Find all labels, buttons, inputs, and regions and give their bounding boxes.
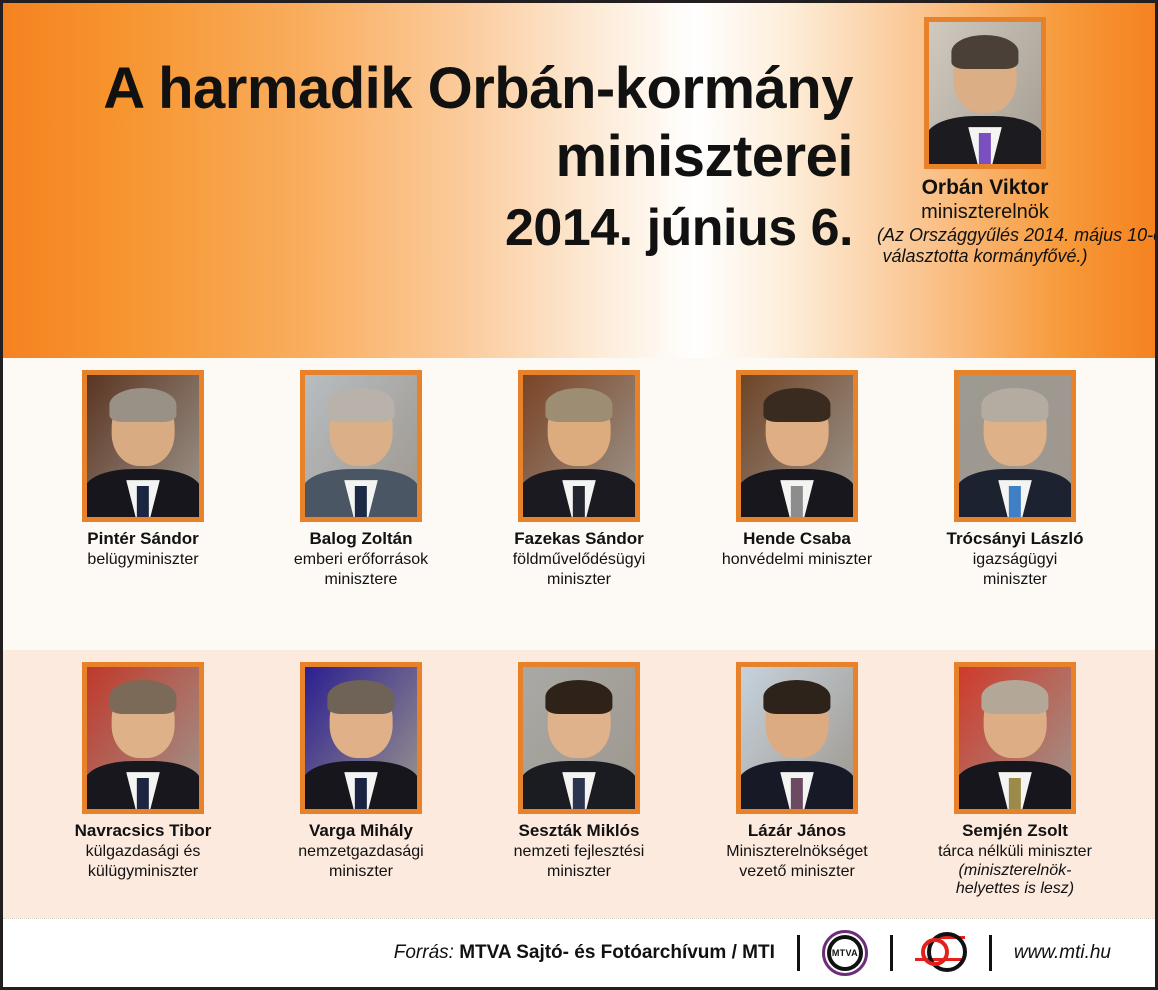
role-line: nemzetgazdasági xyxy=(267,842,455,862)
person-role: nemzetgazdaságiminiszter xyxy=(267,842,455,881)
role-line: miniszter xyxy=(267,862,455,882)
role-line: miniszter xyxy=(921,570,1109,590)
role-line: vezető miniszter xyxy=(703,862,891,882)
role-line: minisztere xyxy=(267,570,455,590)
person-role: honvédelmi miniszter xyxy=(703,550,891,570)
title-date: 2014. június 6. xyxy=(23,192,853,259)
pm-role: miniszterelnök xyxy=(877,200,1093,224)
portrait-placeholder xyxy=(523,667,635,809)
role-line: Miniszterelnökséget xyxy=(703,842,891,862)
person-name: Lázár János xyxy=(703,821,891,841)
title-line-2: miniszterei xyxy=(23,123,853,191)
minister-row-2: Navracsics Tiborkülgazdasági éskülügymin… xyxy=(3,650,1155,918)
person-name: Fazekas Sándor xyxy=(485,529,673,549)
person-role: külgazdasági éskülügyminiszter xyxy=(49,842,237,881)
person-name: Hende Csaba xyxy=(703,529,891,549)
portrait-placeholder xyxy=(87,375,199,517)
role-line: földművelődésügyi xyxy=(485,550,673,570)
minister-card: Balog Zoltánemberi erőforrásokminisztere xyxy=(267,358,455,650)
pm-note-line-1: (Az Országgyűlés 2014. május 10-én xyxy=(877,225,1093,246)
role-line: honvédelmi miniszter xyxy=(703,550,891,570)
portrait-trocsanyi-laszlo xyxy=(954,370,1076,522)
minister-card: Lázár JánosMiniszterelnökségetvezető min… xyxy=(703,650,891,918)
person-role: Miniszterelnökségetvezető miniszter xyxy=(703,842,891,881)
portrait-hende-csaba xyxy=(736,370,858,522)
role-line: tárca nélküli miniszter xyxy=(921,842,1109,862)
role-line: miniszter xyxy=(485,570,673,590)
mti-logo-icon xyxy=(915,930,967,976)
portrait-orban-viktor xyxy=(924,17,1046,169)
person-name: Navracsics Tibor xyxy=(49,821,237,841)
poster-header: A harmadik Orbán-kormány miniszterei 201… xyxy=(3,3,1155,358)
website-url: www.mti.hu xyxy=(1014,942,1111,964)
portrait-placeholder xyxy=(305,667,417,809)
portrait-navracsics-tibor xyxy=(82,662,204,814)
pm-note: (Az Országgyűlés 2014. május 10-én válas… xyxy=(877,225,1093,267)
prime-minister-card: Orbán Viktor miniszterelnök (Az Országgy… xyxy=(877,17,1093,268)
portrait-placeholder xyxy=(87,667,199,809)
person-name: Balog Zoltán xyxy=(267,529,455,549)
portrait-placeholder xyxy=(929,22,1041,164)
portrait-sesztak-miklos xyxy=(518,662,640,814)
person-name: Varga Mihály xyxy=(267,821,455,841)
pm-note-line-2: választotta kormányfővé.) xyxy=(877,246,1093,267)
role-line: külgazdasági és xyxy=(49,842,237,862)
portrait-balog-zoltan xyxy=(300,370,422,522)
role-line: nemzeti fejlesztési xyxy=(485,842,673,862)
portrait-semjen-zsolt xyxy=(954,662,1076,814)
person-role: igazságügyiminiszter xyxy=(921,550,1109,589)
title-line-1: A harmadik Orbán-kormány xyxy=(23,55,853,123)
minister-card: Seszták Miklósnemzeti fejlesztésiminiszt… xyxy=(485,650,673,918)
portrait-lazar-janos xyxy=(736,662,858,814)
minister-row-1: Pintér SándorbelügyminiszterBalog Zoltán… xyxy=(3,358,1155,650)
portrait-placeholder xyxy=(741,375,853,517)
minister-card: Varga Mihálynemzetgazdaságiminiszter xyxy=(267,650,455,918)
source-value: MTVA Sajtó- és Fotóarchívum / MTI xyxy=(459,942,775,963)
portrait-varga-mihaly xyxy=(300,662,422,814)
role-line: belügyminiszter xyxy=(49,550,237,570)
infographic-poster: A harmadik Orbán-kormány miniszterei 201… xyxy=(0,0,1158,990)
note-line: (miniszterelnök- xyxy=(921,862,1109,881)
person-note: (miniszterelnök-helyettes is lesz) xyxy=(921,862,1109,900)
role-line: miniszter xyxy=(485,862,673,882)
person-name: Semjén Zsolt xyxy=(921,821,1109,841)
minister-card: Fazekas Sándorföldművelődésügyiminiszter xyxy=(485,358,673,650)
person-name: Pintér Sándor xyxy=(49,529,237,549)
source-credit: Forrás: MTVA Sajtó- és Fotóarchívum / MT… xyxy=(394,942,775,964)
minister-card: Semjén Zsolttárca nélküli miniszter(mini… xyxy=(921,650,1109,918)
footer-divider-3 xyxy=(989,935,992,971)
footer-divider-2 xyxy=(890,935,893,971)
portrait-pinter-sandor xyxy=(82,370,204,522)
role-line: külügyminiszter xyxy=(49,862,237,882)
mtva-logo-text: MTVA xyxy=(822,930,868,976)
pm-name: Orbán Viktor xyxy=(877,176,1093,200)
person-role: belügyminiszter xyxy=(49,550,237,570)
person-name: Seszták Miklós xyxy=(485,821,673,841)
person-name: Trócsányi László xyxy=(921,529,1109,549)
portrait-placeholder xyxy=(959,667,1071,809)
role-line: emberi erőforrások xyxy=(267,550,455,570)
minister-card: Pintér Sándorbelügyminiszter xyxy=(49,358,237,650)
page-title: A harmadik Orbán-kormány miniszterei 201… xyxy=(23,55,853,259)
person-role: tárca nélküli miniszter xyxy=(921,842,1109,862)
poster-footer: Forrás: MTVA Sajtó- és Fotóarchívum / MT… xyxy=(3,918,1155,987)
portrait-placeholder xyxy=(305,375,417,517)
footer-divider-1 xyxy=(797,935,800,971)
portrait-fazekas-sandor xyxy=(518,370,640,522)
person-role: földművelődésügyiminiszter xyxy=(485,550,673,589)
portrait-placeholder xyxy=(523,375,635,517)
source-label: Forrás: xyxy=(394,942,454,963)
minister-card: Trócsányi Lászlóigazságügyiminiszter xyxy=(921,358,1109,650)
note-line: helyettes is lesz) xyxy=(921,880,1109,899)
minister-card: Navracsics Tiborkülgazdasági éskülügymin… xyxy=(49,650,237,918)
person-role: nemzeti fejlesztésiminiszter xyxy=(485,842,673,881)
mtva-logo-icon: MTVA xyxy=(822,930,868,976)
person-role: emberi erőforrásokminisztere xyxy=(267,550,455,589)
role-line: igazságügyi xyxy=(921,550,1109,570)
portrait-placeholder xyxy=(741,667,853,809)
minister-card: Hende Csabahonvédelmi miniszter xyxy=(703,358,891,650)
portrait-placeholder xyxy=(959,375,1071,517)
